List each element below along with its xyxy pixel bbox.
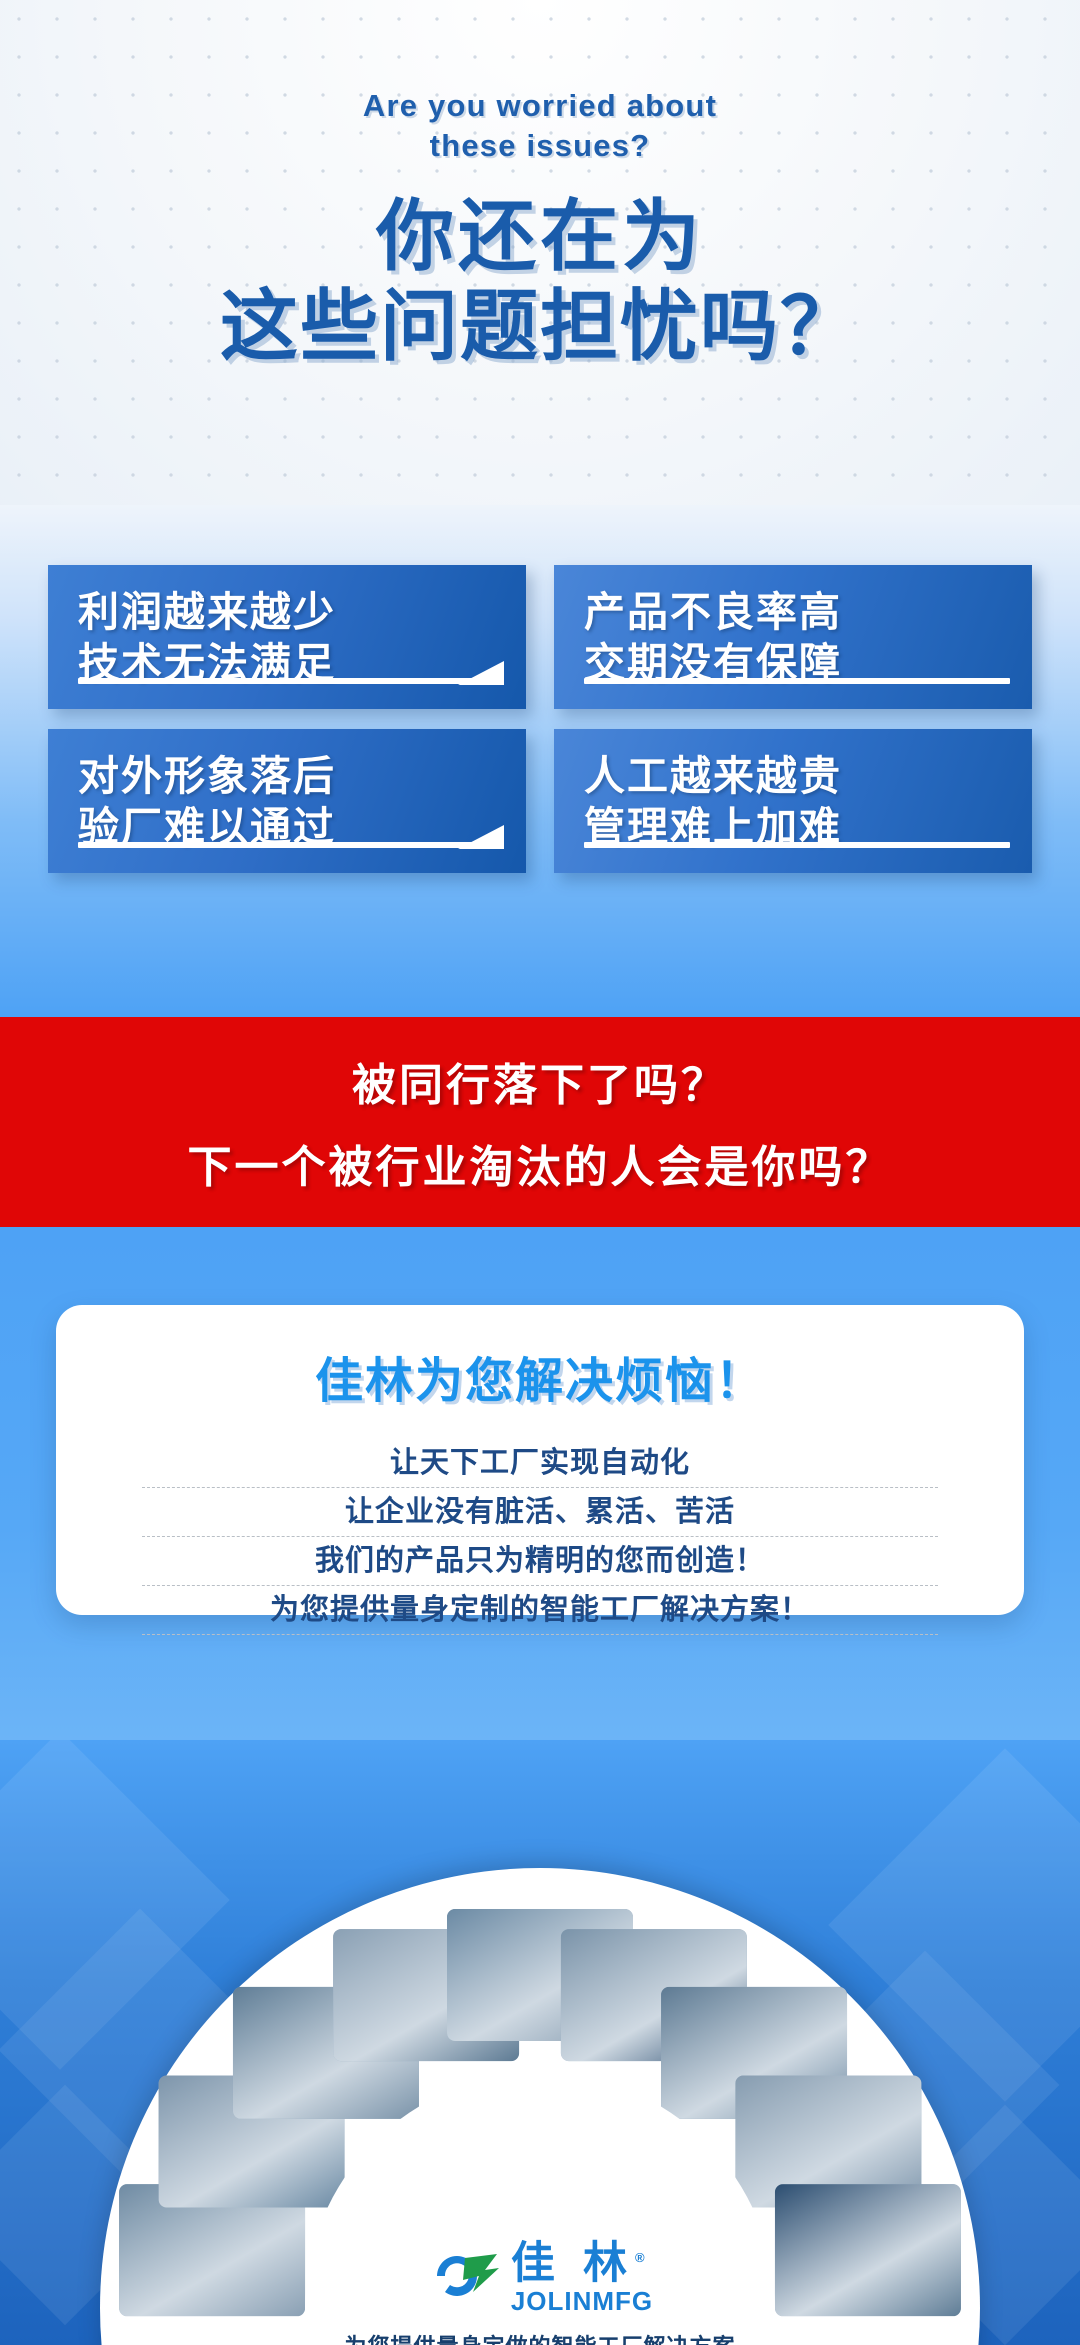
hero-eyebrow: Are you worried about these issues? bbox=[0, 86, 1080, 166]
brand-tagline: 为您提供量身定做的智能工厂解决方案 bbox=[344, 2329, 735, 2345]
registered-mark: ® bbox=[635, 2250, 653, 2265]
hero-headline-line2: 这些问题担忧吗？ bbox=[0, 284, 1080, 368]
solution-line: 让天下工厂实现自动化 bbox=[142, 1439, 938, 1488]
problem-box[interactable]: 产品不良率高 交期没有保障 bbox=[554, 565, 1032, 709]
hero-eyebrow-line2: these issues? bbox=[430, 128, 651, 163]
solution-line-list: 让天下工厂实现自动化 让企业没有脏活、累活、苦活 我们的产品只为精明的您而创造！… bbox=[56, 1439, 1024, 1635]
segment-image bbox=[775, 2184, 961, 2316]
capability-wheel-section: 中央厨房智造系统物流仓储智造系统非织造布包装系统工业智能制造系统食品行业包装系统… bbox=[0, 1740, 1080, 2345]
solution-card: 佳林为您解决烦恼！ 让天下工厂实现自动化 让企业没有脏活、累活、苦活 我们的产品… bbox=[56, 1305, 1024, 1615]
problem-box-line1: 人工越来越贵 bbox=[584, 751, 1006, 802]
problems-section: 利润越来越少 技术无法满足 产品不良率高 交期没有保障 对外形象落后 验厂难以通… bbox=[0, 505, 1080, 1017]
solution-section: 佳林为您解决烦恼！ 让天下工厂实现自动化 让企业没有脏活、累活、苦活 我们的产品… bbox=[0, 1227, 1080, 1772]
promo-page: Are you worried about these issues? 你还在为… bbox=[0, 0, 1080, 2345]
brand-name-cn: 佳 林® bbox=[511, 2236, 653, 2286]
red-banner-line1: 被同行落下了吗？ bbox=[352, 1049, 728, 1113]
red-banner: 被同行落下了吗？ 下一个被行业淘汰的人会是你吗？ bbox=[0, 1017, 1080, 1227]
solution-line: 让企业没有脏活、累活、苦活 bbox=[142, 1488, 938, 1537]
problem-box-line1: 对外形象落后 bbox=[78, 751, 500, 802]
underline-rule bbox=[584, 671, 1010, 689]
underline-rule bbox=[584, 835, 1010, 853]
problem-box-line1: 产品不良率高 bbox=[584, 587, 1006, 638]
jolin-gear-bird-icon bbox=[427, 2246, 501, 2308]
solution-line: 我们的产品只为精明的您而创造！ bbox=[142, 1537, 938, 1586]
problem-box[interactable]: 人工越来越贵 管理难上加难 bbox=[554, 729, 1032, 873]
brand-name-en: JOLINMFG bbox=[511, 2286, 653, 2317]
hero-eyebrow-line1: Are you worried about bbox=[363, 88, 717, 123]
problem-box-grid: 利润越来越少 技术无法满足 产品不良率高 交期没有保障 对外形象落后 验厂难以通… bbox=[48, 565, 1032, 873]
hero-section: Are you worried about these issues? 你还在为… bbox=[0, 0, 1080, 545]
hero-headline: 你还在为 这些问题担忧吗？ bbox=[0, 194, 1080, 368]
solution-line: 为您提供量身定制的智能工厂解决方案！ bbox=[142, 1586, 938, 1635]
red-banner-line2: 下一个被行业淘汰的人会是你吗？ bbox=[188, 1131, 893, 1195]
arrow-icon bbox=[78, 671, 504, 689]
hero-headline-line1: 你还在为 bbox=[376, 192, 704, 280]
problem-box[interactable]: 对外形象落后 验厂难以通过 bbox=[48, 729, 526, 873]
solution-title: 佳林为您解决烦恼！ bbox=[56, 1341, 1024, 1411]
problem-box[interactable]: 利润越来越少 技术无法满足 bbox=[48, 565, 526, 709]
problem-box-line1: 利润越来越少 bbox=[78, 587, 500, 638]
arrow-icon bbox=[78, 835, 504, 853]
